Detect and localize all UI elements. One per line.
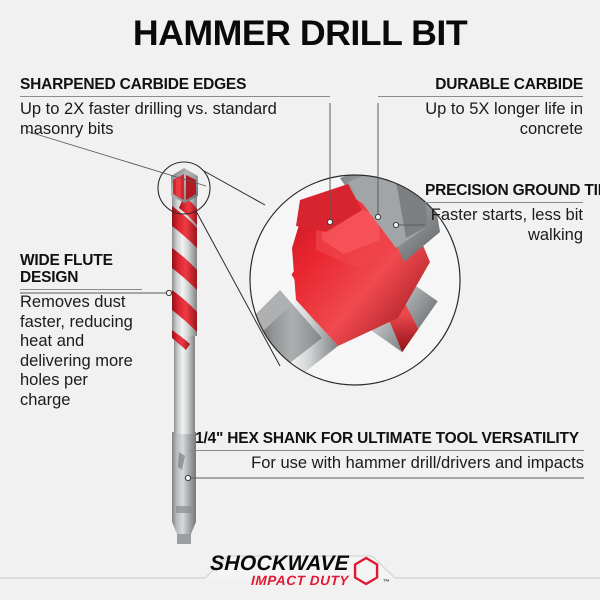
- drill-bit-small: [171, 168, 198, 544]
- callout-precision-ground-tip: PRECISION GROUND TIP Faster starts, less…: [425, 182, 583, 245]
- callout-body: Faster starts, less bit walking: [425, 206, 583, 245]
- logo-brand-text: SHOCKWAVE: [210, 554, 350, 574]
- hexagon-outline-icon: [353, 556, 379, 586]
- callout-rule: [20, 289, 142, 290]
- callout-rule: [425, 202, 583, 203]
- callout-rule: [20, 96, 330, 97]
- callout-heading: WIDE FLUTE DESIGN: [20, 252, 142, 286]
- callout-heading: 1/4" HEX SHANK FOR ULTIMATE TOOL VERSATI…: [190, 430, 584, 447]
- footer-brand-bar: SHOCKWAVE IMPACT DUTY ™: [0, 542, 600, 600]
- logo-subbrand-text: IMPACT DUTY: [210, 574, 349, 588]
- callout-heading: DURABLE CARBIDE: [378, 76, 583, 93]
- shockwave-logo: SHOCKWAVE IMPACT DUTY ™: [210, 554, 390, 588]
- trademark-symbol: ™: [383, 579, 390, 586]
- callout-durable-carbide: DURABLE CARBIDE Up to 5X longer life in …: [378, 76, 583, 139]
- callout-body: Up to 2X faster drilling vs. standard ma…: [20, 100, 330, 139]
- callout-sharpened-carbide-edges: SHARPENED CARBIDE EDGES Up to 2X faster …: [20, 76, 330, 139]
- callout-wide-flute-design: WIDE FLUTE DESIGN Removes dust faster, r…: [20, 252, 142, 410]
- callout-heading: SHARPENED CARBIDE EDGES: [20, 76, 330, 93]
- callout-body: For use with hammer drill/drivers and im…: [190, 454, 584, 474]
- callout-body: Removes dust faster, reducing heat and d…: [20, 293, 142, 410]
- callout-rule: [190, 450, 584, 451]
- callout-hex-shank: 1/4" HEX SHANK FOR ULTIMATE TOOL VERSATI…: [190, 430, 584, 474]
- callout-heading: PRECISION GROUND TIP: [425, 182, 583, 199]
- infographic-canvas: HAMMER DRILL BIT: [0, 0, 600, 600]
- callout-body: Up to 5X longer life in concrete: [378, 100, 583, 139]
- callout-rule: [378, 96, 583, 97]
